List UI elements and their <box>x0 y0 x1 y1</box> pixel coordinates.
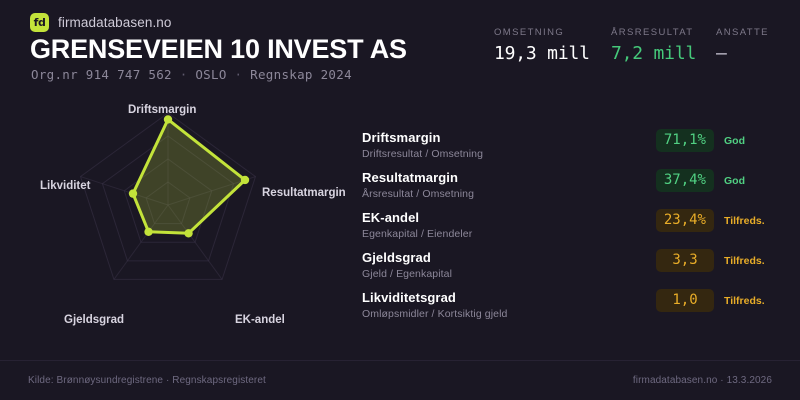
metric-value-badge: 23,4% <box>656 209 714 232</box>
stat-ansatte-value: – <box>716 43 776 64</box>
metric-value-badge: 3,3 <box>656 249 714 272</box>
stat-arsresultat-value: 7,2 mill <box>611 43 716 64</box>
metric-row-likviditetsgrad: Likviditetsgrad Omløpsmidler / Kortsikti… <box>362 288 782 328</box>
metric-value-group: 71,1% God <box>656 128 782 152</box>
metric-value-group: 23,4% Tilfreds. <box>656 208 782 232</box>
status-badge: Tilfreds. <box>724 295 782 307</box>
stat-arsresultat-label: ÅRSRESULTAT <box>611 27 716 38</box>
metric-text: Likviditetsgrad Omløpsmidler / Kortsikti… <box>362 288 656 320</box>
metric-row-driftsmargin: Driftsmargin Driftsresultat / Omsetning … <box>362 128 782 168</box>
metric-name: Likviditetsgrad <box>362 290 656 305</box>
stat-ansatte: ANSATTE – <box>716 27 776 64</box>
metric-row-ekandel: EK-andel Egenkapital / Eiendeler 23,4% T… <box>362 208 782 248</box>
metric-name: EK-andel <box>362 210 656 225</box>
stat-arsresultat: ÅRSRESULTAT 7,2 mill <box>611 27 716 64</box>
metric-value-group: 37,4% God <box>656 168 782 192</box>
metric-text: Gjeldsgrad Gjeld / Egenkapital <box>362 248 656 280</box>
meta-separator-2: · <box>235 67 243 82</box>
stat-omsetning-label: OMSETNING <box>494 27 611 38</box>
metric-formula: Egenkapital / Eiendeler <box>362 228 656 240</box>
radar-chart-svg <box>0 88 355 346</box>
metric-value-badge: 1,0 <box>656 289 714 312</box>
stat-ansatte-label: ANSATTE <box>716 27 776 38</box>
radar-axis-label-ekandel: EK-andel <box>235 314 285 326</box>
metric-formula: Årsresultat / Omsetning <box>362 188 656 200</box>
metric-text: Resultatmargin Årsresultat / Omsetning <box>362 168 656 200</box>
radar-axis-label-gjeldsgrad: Gjeldsgrad <box>64 314 124 326</box>
org-number: Org.nr 914 747 562 <box>31 67 172 82</box>
radar-axis-label-driftsmargin: Driftsmargin <box>128 104 196 116</box>
metric-name: Gjeldsgrad <box>362 250 656 265</box>
status-badge: Tilfreds. <box>724 215 782 227</box>
metric-formula: Driftsresultat / Omsetning <box>362 148 656 160</box>
footer-source: Kilde: Brønnøysundregistrene · Regnskaps… <box>28 375 266 386</box>
report-card: fd firmadatabasen.no GRENSEVEIEN 10 INVE… <box>0 0 800 400</box>
metric-name: Resultatmargin <box>362 170 656 185</box>
page-title: GRENSEVEIEN 10 INVEST AS <box>30 34 407 65</box>
accounting-period: Regnskap 2024 <box>250 67 352 82</box>
metric-row-gjeldsgrad: Gjeldsgrad Gjeld / Egenkapital 3,3 Tilfr… <box>362 248 782 288</box>
footer-divider <box>0 360 800 361</box>
radar-chart: Driftsmargin Resultatmargin EK-andel Gje… <box>0 88 355 346</box>
meta-separator-1: · <box>180 67 188 82</box>
metric-value-badge: 71,1% <box>656 129 714 152</box>
status-badge: God <box>724 135 782 147</box>
company-meta: Org.nr 914 747 562 · OSLO · Regnskap 202… <box>31 67 352 82</box>
header-stats: OMSETNING 19,3 mill ÅRSRESULTAT 7,2 mill… <box>494 27 776 64</box>
stat-omsetning-value: 19,3 mill <box>494 43 611 64</box>
radar-axis-label-likviditet: Likviditet <box>40 180 90 192</box>
brand[interactable]: fd firmadatabasen.no <box>30 13 172 32</box>
metric-value-badge: 37,4% <box>656 169 714 192</box>
metric-value-group: 3,3 Tilfreds. <box>656 248 782 272</box>
brand-name: firmadatabasen.no <box>58 15 172 30</box>
metric-name: Driftsmargin <box>362 130 656 145</box>
company-city: OSLO <box>195 67 226 82</box>
metric-row-resultatmargin: Resultatmargin Årsresultat / Omsetning 3… <box>362 168 782 208</box>
firmadatabasen-logo-icon: fd <box>30 13 49 32</box>
metric-formula: Gjeld / Egenkapital <box>362 268 656 280</box>
stat-omsetning: OMSETNING 19,3 mill <box>494 27 611 64</box>
footer-attribution: firmadatabasen.no · 13.3.2026 <box>633 375 772 386</box>
metric-formula: Omløpsmidler / Kortsiktig gjeld <box>362 308 656 320</box>
radar-axis-label-resultatmargin: Resultatmargin <box>262 187 346 199</box>
metric-text: Driftsmargin Driftsresultat / Omsetning <box>362 128 656 160</box>
metric-text: EK-andel Egenkapital / Eiendeler <box>362 208 656 240</box>
status-badge: God <box>724 175 782 187</box>
metric-value-group: 1,0 Tilfreds. <box>656 288 782 312</box>
status-badge: Tilfreds. <box>724 255 782 267</box>
metrics-list: Driftsmargin Driftsresultat / Omsetning … <box>362 128 782 328</box>
